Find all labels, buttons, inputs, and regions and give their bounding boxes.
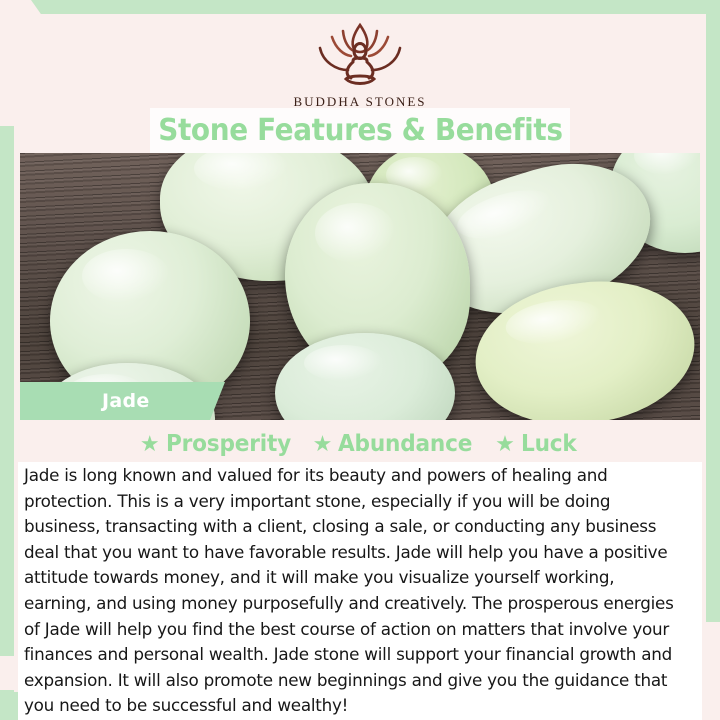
benefits-row: ★ Prosperity ★ Abundance ★ Luck (0, 431, 720, 457)
benefit-label: Abundance (338, 431, 472, 457)
benefit-item-prosperity: ★ Prosperity (140, 431, 299, 457)
stone-features-poster: BUDDHA STONES Stone Features & Benefits … (0, 0, 720, 720)
benefit-label: Prosperity (166, 431, 291, 457)
benefit-item-luck: ★ Luck (495, 431, 580, 457)
description-panel: Jade is long known and valued for its be… (18, 462, 702, 720)
star-icon: ★ (495, 433, 515, 455)
title-band: Stone Features & Benefits (150, 108, 570, 153)
benefit-item-abundance: ★ Abundance (313, 431, 482, 457)
star-icon: ★ (313, 433, 333, 455)
lotus-meditation-icon (296, 18, 424, 90)
star-icon: ★ (140, 433, 160, 455)
description-text: Jade is long known and valued for its be… (24, 464, 677, 720)
jade-stones-photo (20, 153, 700, 420)
stone-name-label: Jade (102, 390, 150, 412)
stone-name-band: Jade (20, 382, 225, 420)
brand-block: BUDDHA STONES (0, 18, 720, 110)
page-title: Stone Features & Benefits (158, 113, 562, 148)
benefit-label: Luck (521, 431, 577, 457)
